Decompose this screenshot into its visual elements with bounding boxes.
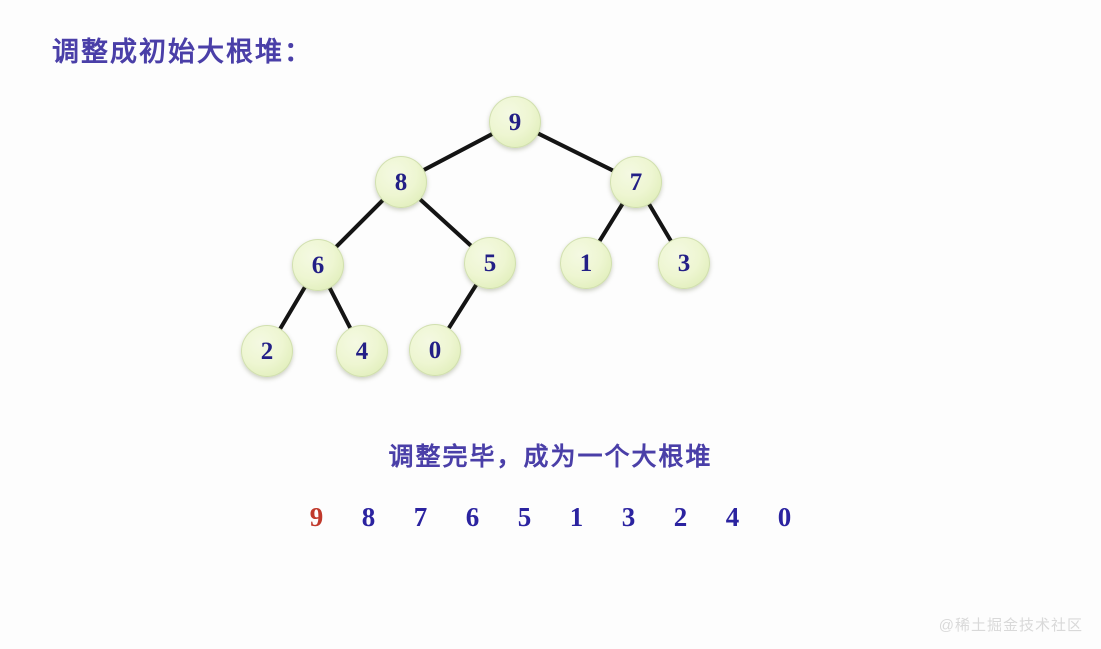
array-cell: 3 — [603, 502, 655, 533]
tree-node-value: 2 — [261, 339, 274, 364]
tree-edge — [599, 202, 624, 242]
tree-edge-layer — [0, 0, 1101, 420]
array-cell: 5 — [499, 502, 551, 533]
tree-edge — [329, 286, 351, 329]
tree-node[interactable]: 9 — [489, 96, 541, 148]
diagram-caption: 调整完毕，成为一个大根堆 — [0, 437, 1101, 473]
array-cell: 0 — [759, 502, 811, 533]
tree-node[interactable]: 5 — [464, 237, 516, 289]
tree-node[interactable]: 2 — [241, 325, 293, 377]
tree-node-value: 0 — [429, 338, 442, 363]
array-cell: 9 — [291, 502, 343, 533]
tree-node[interactable]: 1 — [560, 237, 612, 289]
binary-tree-diagram: 9876513240 — [0, 0, 1101, 420]
tree-node-value: 6 — [312, 253, 325, 278]
tree-edge — [335, 199, 384, 248]
heap-diagram-canvas: 调整成初始大根堆： 9876513240 调整完毕，成为一个大根堆 987651… — [0, 0, 1101, 649]
array-cell: 1 — [551, 502, 603, 533]
tree-edge — [537, 133, 615, 172]
tree-node-value: 5 — [484, 251, 497, 276]
watermark: @稀土掘金技术社区 — [939, 614, 1083, 635]
tree-edge — [419, 198, 473, 247]
tree-node[interactable]: 0 — [409, 324, 461, 376]
tree-node-value: 4 — [356, 339, 369, 364]
tree-node-value: 8 — [395, 170, 408, 195]
tree-node[interactable]: 8 — [375, 156, 427, 208]
array-cell: 4 — [707, 502, 759, 533]
tree-edge — [448, 283, 477, 329]
array-cell: 2 — [655, 502, 707, 533]
tree-node[interactable]: 6 — [292, 239, 344, 291]
array-cell: 7 — [395, 502, 447, 533]
tree-node[interactable]: 4 — [336, 325, 388, 377]
tree-node[interactable]: 3 — [658, 237, 710, 289]
tree-node-value: 3 — [678, 251, 691, 276]
tree-edge — [279, 286, 306, 331]
tree-edge — [648, 203, 672, 243]
tree-node-value: 9 — [509, 110, 522, 135]
tree-edge — [422, 133, 494, 171]
result-array: 9876513240 — [0, 502, 1101, 533]
array-cell: 6 — [447, 502, 499, 533]
array-cell: 8 — [343, 502, 395, 533]
tree-node[interactable]: 7 — [610, 156, 662, 208]
tree-node-value: 7 — [630, 170, 643, 195]
tree-node-value: 1 — [580, 251, 593, 276]
